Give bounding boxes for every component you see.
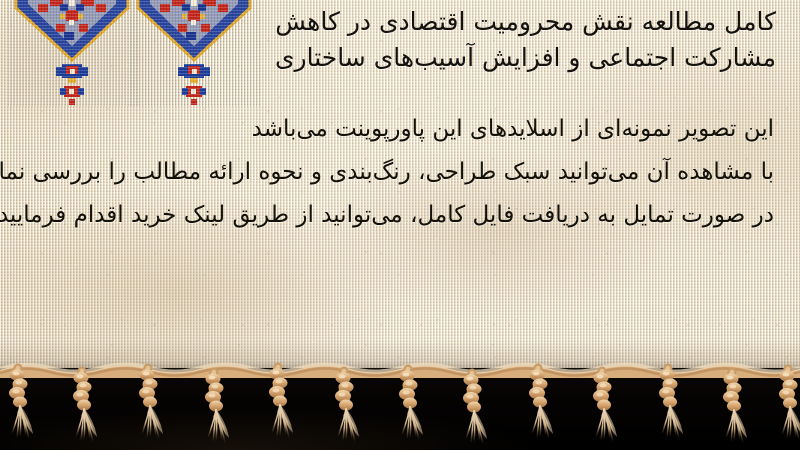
slide-title-line-2: مشارکت اجتماعی و افزایش آسیب‌های ساختاری: [90, 40, 776, 76]
slide-body-line-1: این تصویر نمونه‌ای از اسلایدهای این پاور…: [74, 108, 774, 151]
slide-title-line-1: کامل مطالعه نقش محرومیت اقتصادی در کاهش: [90, 4, 776, 40]
slide-body-line-2: با مشاهده آن می‌توانید سبک طراحی، رنگ‌بن…: [74, 151, 774, 194]
bottom-black-band: [0, 368, 800, 450]
slide-body-line-3: در صورت تمایل به دریافت فایل کامل، می‌تو…: [74, 194, 774, 237]
slide-body-text: این تصویر نمونه‌ای از اسلایدهای این پاور…: [74, 108, 774, 237]
presentation-slide: کامل مطالعه نقش محرومیت اقتصادی در کاهش …: [0, 0, 800, 450]
slide-title: کامل مطالعه نقش محرومیت اقتصادی در کاهش …: [90, 4, 776, 76]
